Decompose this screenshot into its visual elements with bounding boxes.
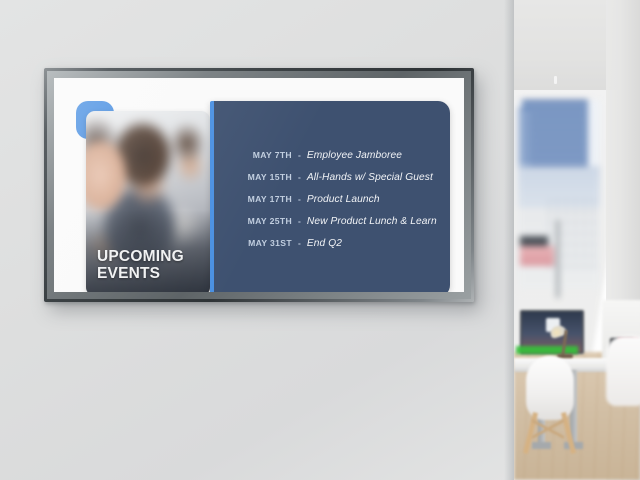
wall-mounted-display[interactable]: UPCOMING EVENTS MAY 7TH - Employee Jambo… [44, 68, 474, 302]
slide-heading-line2: EVENTS [97, 266, 184, 283]
event-date: MAY 15TH [218, 172, 292, 182]
event-separator: - [292, 216, 307, 226]
display-screen[interactable]: UPCOMING EVENTS MAY 7TH - Employee Jambo… [54, 78, 464, 292]
city-tower-main [522, 100, 588, 170]
event-date: MAY 25TH [218, 216, 292, 226]
office-chair-secondary [606, 336, 640, 406]
list-item: MAY 31ST - End Q2 [218, 238, 440, 249]
list-item: MAY 7TH - Employee Jamboree [218, 150, 440, 161]
street-pole [556, 220, 560, 298]
slide-heading-line1: UPCOMING [97, 249, 184, 266]
list-item: MAY 25TH - New Product Lunch & Learn [218, 216, 440, 227]
events-panel: MAY 7TH - Employee Jamboree MAY 15TH - A… [210, 101, 450, 292]
event-separator: - [292, 194, 307, 204]
event-separator: - [292, 238, 307, 248]
photo-card: UPCOMING EVENTS [86, 111, 210, 292]
background-office-area [514, 0, 640, 480]
room-scene: UPCOMING EVENTS MAY 7TH - Employee Jambo… [0, 0, 640, 480]
ceiling-light [554, 76, 557, 84]
event-title: All-Hands w/ Special Guest [307, 172, 433, 183]
slide-heading: UPCOMING EVENTS [97, 249, 184, 282]
chair-leg-brace [532, 418, 564, 440]
desk-foot [532, 442, 551, 449]
event-title: New Product Lunch & Learn [307, 216, 437, 227]
city-tower-secondary [518, 108, 530, 170]
city-building-red [520, 246, 554, 266]
event-separator: - [292, 172, 307, 182]
monitor-green-bar [516, 346, 578, 354]
display-bezel: UPCOMING EVENTS MAY 7TH - Employee Jambo… [47, 71, 471, 299]
list-item: MAY 15TH - All-Hands w/ Special Guest [218, 172, 440, 183]
event-title: Product Launch [307, 194, 380, 205]
list-item: MAY 17TH - Product Launch [218, 194, 440, 205]
event-date: MAY 31ST [218, 238, 292, 248]
events-list: MAY 7TH - Employee Jamboree MAY 15TH - A… [214, 101, 450, 292]
event-title: Employee Jamboree [307, 150, 402, 161]
office-chair [526, 356, 574, 420]
slide-canvas: UPCOMING EVENTS MAY 7TH - Employee Jambo… [54, 78, 464, 292]
event-date: MAY 7TH [218, 150, 292, 160]
event-title: End Q2 [307, 238, 342, 249]
event-date: MAY 17TH [218, 194, 292, 204]
event-separator: - [292, 150, 307, 160]
